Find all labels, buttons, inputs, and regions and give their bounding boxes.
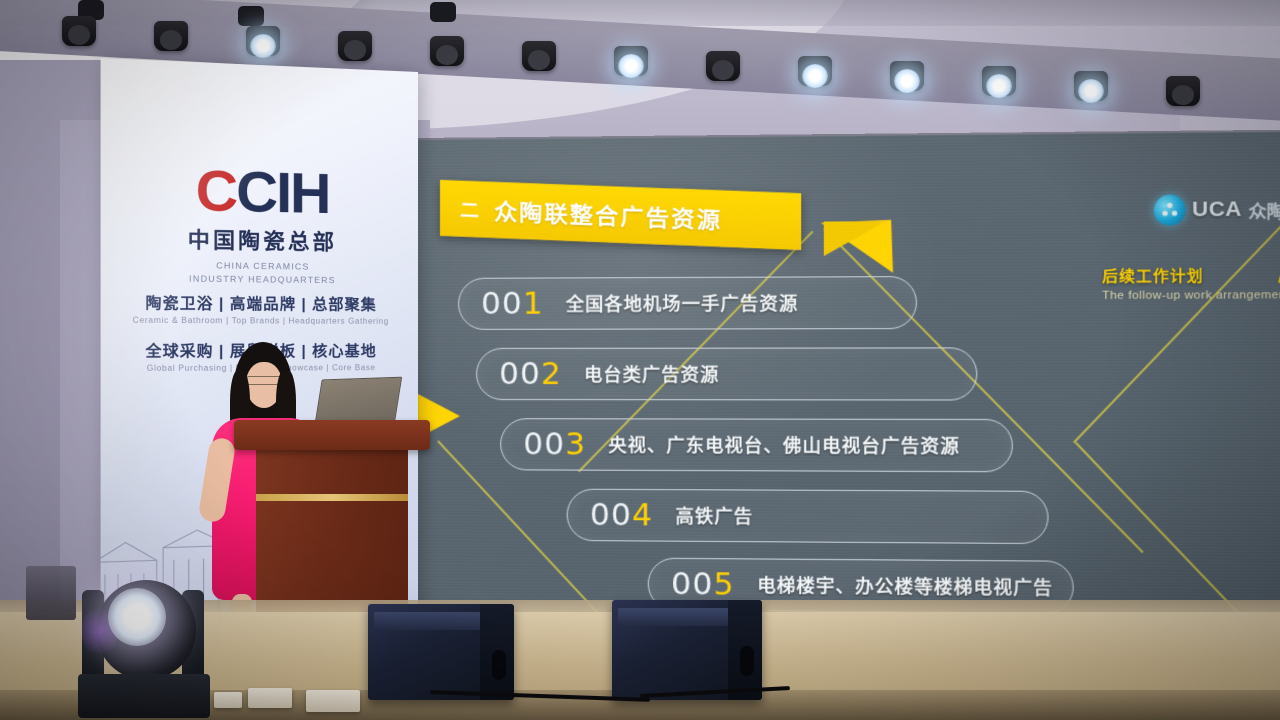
led-presentation-screen: 二 众陶联整合广告资源 001全国各地机场一手广告资源002电台类广告资源003…: [418, 132, 1280, 621]
floor-plate: [306, 690, 360, 712]
floor-plate: [214, 692, 242, 708]
ceiling-spot-icon: [430, 2, 456, 22]
stage-lamp-icon: [798, 56, 832, 86]
stage-monitor-speaker: [612, 600, 762, 700]
speaker-handle: [740, 646, 754, 676]
speaker-grill: [618, 608, 730, 626]
light-beam: [108, 588, 166, 646]
stage-lamp-icon: [890, 61, 924, 91]
stage-lamp-icon: [62, 16, 96, 46]
stage-lamp-icon: [1166, 76, 1200, 106]
stage-lamp-icon: [246, 26, 280, 56]
stage-lamp-icon: [430, 36, 464, 66]
led-pixel-grid: [418, 132, 1280, 621]
speaker-grill: [374, 612, 482, 630]
ceiling-spot-icon: [238, 6, 264, 26]
podium-top: [234, 420, 430, 450]
stage-riser-block: [26, 566, 76, 620]
podium-gold-stripe: [256, 494, 408, 501]
stage-lamp-icon: [522, 41, 556, 71]
speaker-handle: [492, 650, 506, 680]
moving-head-light: [78, 568, 210, 718]
stage-lamp-icon: [982, 66, 1016, 96]
stage-lamp-icon: [706, 51, 740, 81]
stage-lamp-icon: [154, 21, 188, 51]
stage-lamp-icon: [338, 31, 372, 61]
stage-lamp-icon: [1074, 71, 1108, 101]
floor-plate: [248, 688, 292, 708]
stage-lamp-icon: [614, 46, 648, 76]
stage-monitor-speaker: [368, 604, 514, 700]
light-base: [78, 674, 210, 718]
conference-stage-photo: 二 众陶联整合广告资源 001全国各地机场一手广告资源002电台类广告资源003…: [0, 0, 1280, 720]
